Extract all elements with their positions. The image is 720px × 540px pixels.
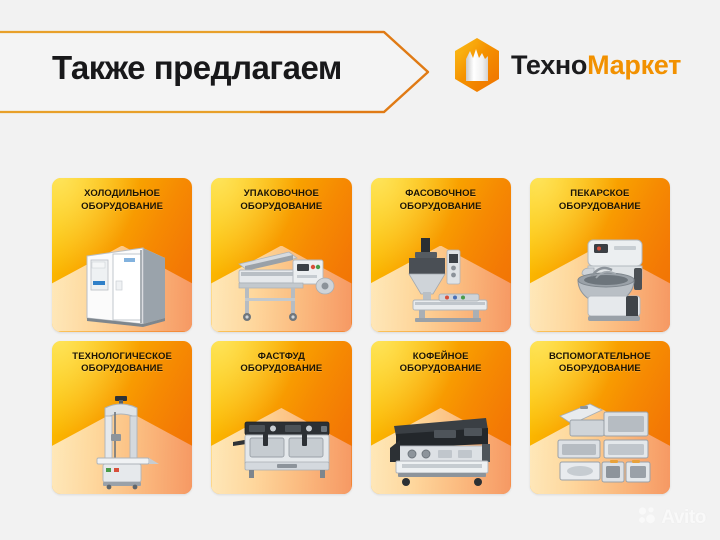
band-saw-icon <box>52 394 192 490</box>
category-card-technological[interactable]: ТЕХНОЛОГИЧЕСКОЕ ОБОРУДОВАНИЕ <box>52 341 192 495</box>
card-title: ФАСОВОЧНОЕ ОБОРУДОВАНИЕ <box>371 188 511 213</box>
category-grid: ХОЛОДИЛЬНОЕ ОБОРУДОВАНИЕ УПАКОВОЧНО <box>52 178 670 494</box>
filling-machine-icon <box>371 232 511 328</box>
gastronorm-pans-icon <box>530 394 670 490</box>
brand-name-orange: Маркет <box>587 50 681 80</box>
category-card-coffee[interactable]: КОФЕЙНОЕ ОБОРУДОВАНИЕ <box>371 341 511 495</box>
packaging-machine-icon <box>211 232 351 328</box>
page-header: Также предлагаем <box>0 0 720 140</box>
page-title: Также предлагаем <box>52 44 422 92</box>
category-card-fastfood[interactable]: ФАСТФУД ОБОРУДОВАНИЕ <box>211 341 351 495</box>
card-title: ФАСТФУД ОБОРУДОВАНИЕ <box>211 351 351 376</box>
card-title: ПЕКАРСКОЕ ОБОРУДОВАНИЕ <box>530 188 670 213</box>
category-card-filling[interactable]: ФАСОВОЧНОЕ ОБОРУДОВАНИЕ <box>371 178 511 332</box>
category-card-cold-room[interactable]: ХОЛОДИЛЬНОЕ ОБОРУДОВАНИЕ <box>52 178 192 332</box>
cold-room-icon <box>52 232 192 328</box>
card-title: ХОЛОДИЛЬНОЕ ОБОРУДОВАНИЕ <box>52 188 192 213</box>
spiral-dough-mixer-icon <box>530 232 670 328</box>
brand-logo[interactable]: ТехноМаркет <box>452 36 681 94</box>
avito-watermark: Avito <box>637 505 706 530</box>
hexagon-building-logo-icon <box>452 37 502 93</box>
deep-fryer-icon <box>211 394 351 490</box>
category-card-bakery[interactable]: ПЕКАРСКОЕ ОБОРУДОВАНИЕ <box>530 178 670 332</box>
category-card-packaging[interactable]: УПАКОВОЧНОЕ ОБОРУДОВАНИЕ <box>211 178 351 332</box>
card-title: КОФЕЙНОЕ ОБОРУДОВАНИЕ <box>371 351 511 376</box>
avito-dots-icon <box>637 505 657 530</box>
card-title: ТЕХНОЛОГИЧЕСКОЕ ОБОРУДОВАНИЕ <box>52 351 192 376</box>
card-title: ВСПОМОГАТЕЛЬНОЕ ОБОРУДОВАНИЕ <box>530 351 670 376</box>
brand-logo-text: ТехноМаркет <box>511 52 681 79</box>
card-title: УПАКОВОЧНОЕ ОБОРУДОВАНИЕ <box>211 188 351 213</box>
brand-name-dark: Техно <box>511 50 587 80</box>
espresso-machine-icon <box>371 394 511 490</box>
category-card-auxiliary[interactable]: ВСПОМОГАТЕЛЬНОЕ ОБОРУДОВАНИЕ <box>530 341 670 495</box>
avito-watermark-label: Avito <box>661 508 706 527</box>
